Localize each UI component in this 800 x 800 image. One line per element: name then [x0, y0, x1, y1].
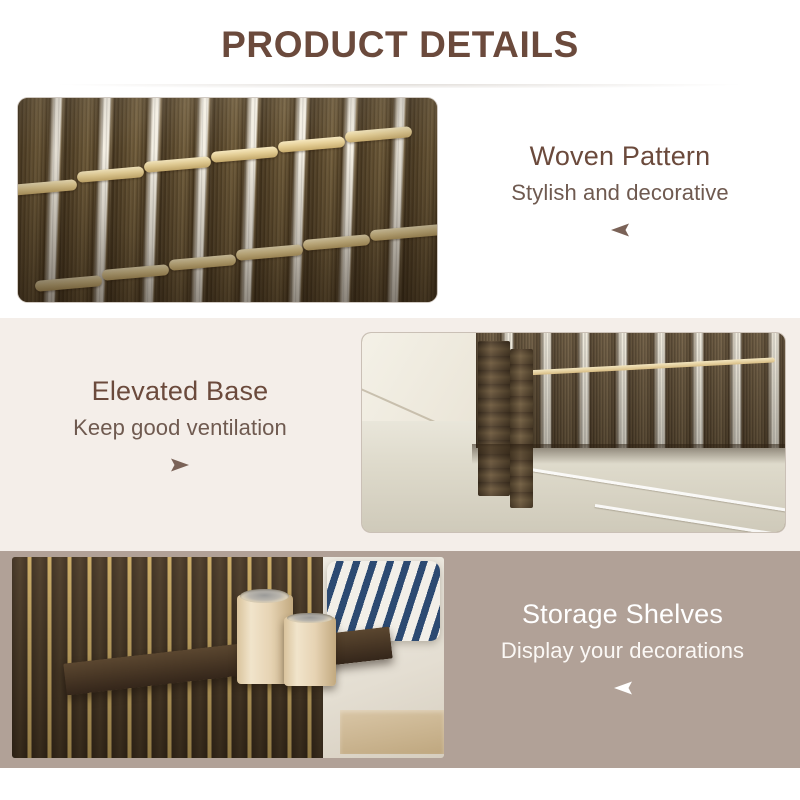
arrow-container-storage-shelves: [455, 679, 790, 697]
left-arrow-icon: [609, 222, 631, 238]
feature-text-storage-shelves: Storage Shelves Display your decorations: [455, 598, 790, 697]
feature-subtitle-elevated-base: Keep good ventilation: [15, 413, 345, 443]
woven-pattern-photo-content: [18, 98, 437, 302]
elevated-base-photo-content: [362, 333, 785, 532]
right-arrow-icon: [169, 457, 191, 473]
feature-title-elevated-base: Elevated Base: [15, 375, 345, 409]
feature-subtitle-woven-pattern: Stylish and decorative: [450, 178, 790, 208]
feature-title-woven-pattern: Woven Pattern: [450, 140, 790, 174]
product-details-infographic: PRODUCT DETAILS Woven Pattern Stylish an…: [0, 0, 800, 800]
under-base-shadow: [472, 444, 785, 464]
feature-text-elevated-base: Elevated Base Keep good ventilation: [15, 375, 345, 474]
arrow-container-woven-pattern: [450, 221, 790, 239]
furniture-leg: [510, 349, 533, 508]
weave-vignette: [18, 98, 437, 302]
feature-subtitle-storage-shelves: Display your decorations: [455, 636, 790, 666]
feature-text-woven-pattern: Woven Pattern Stylish and decorative: [450, 140, 790, 239]
furniture-leg: [478, 341, 510, 496]
left-arrow-icon: [612, 680, 634, 696]
title-bar: PRODUCT DETAILS: [0, 0, 800, 90]
feature-title-storage-shelves: Storage Shelves: [455, 598, 790, 632]
page-title: PRODUCT DETAILS: [221, 24, 579, 66]
feature-image-woven-pattern: [18, 98, 437, 302]
footer-spacer: [0, 768, 800, 800]
arrow-container-elevated-base: [15, 456, 345, 474]
storage-shelves-photo-content: [12, 557, 444, 758]
feature-image-storage-shelves: [12, 557, 444, 758]
feature-image-elevated-base: [362, 333, 785, 532]
birch-candle-holder: [284, 617, 336, 685]
wooden-box: [340, 710, 444, 754]
